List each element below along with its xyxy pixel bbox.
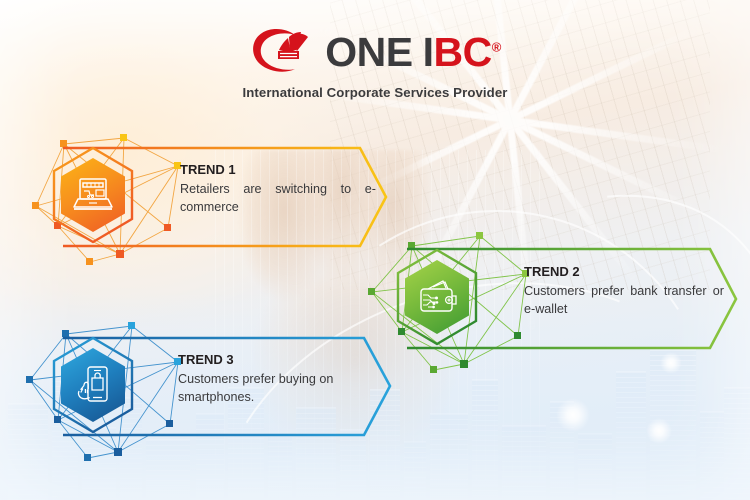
trend-1-text: TREND 1 Retailers are switching to e-com… bbox=[180, 162, 376, 217]
brand-wordmark: ONEIBC® bbox=[325, 32, 501, 73]
trend-3-title: TREND 3 bbox=[178, 352, 378, 368]
brand-i-text: I bbox=[413, 29, 434, 75]
brand-tagline: International Corporate Services Provide… bbox=[0, 85, 750, 100]
trend-2-title: TREND 2 bbox=[524, 264, 724, 280]
trend-1-block[interactable]: TREND 1 Retailers are switching to e-com… bbox=[28, 132, 388, 264]
wallet-circuit-icon bbox=[405, 260, 469, 334]
logo-row: ONEIBC® bbox=[0, 24, 750, 80]
trend-2-body: Customers prefer bank transfer or e-wall… bbox=[524, 283, 724, 319]
trend-3-icon-hexagon bbox=[50, 336, 136, 434]
brand-one-text: ONE bbox=[325, 29, 412, 75]
laptop-storefront-ecommerce-icon bbox=[61, 158, 125, 232]
brand-header: ONEIBC® International Corporate Services… bbox=[0, 24, 750, 100]
trend-2-block[interactable]: TREND 2 Customers prefer bank transfer o… bbox=[368, 232, 738, 370]
brand-bc-text: BC bbox=[433, 29, 491, 75]
one-ibc-swoosh-logo-icon bbox=[249, 26, 313, 78]
trend-3-block[interactable]: TREND 3 Customers prefer buying on smart… bbox=[26, 322, 386, 458]
trend-2-icon-hexagon bbox=[394, 248, 480, 346]
trend-2-text: TREND 2 Customers prefer bank transfer o… bbox=[524, 264, 724, 319]
trend-1-title: TREND 1 bbox=[180, 162, 376, 178]
trend-1-body: Retailers are switching to e-commerce bbox=[180, 181, 376, 217]
registered-trademark-icon: ® bbox=[492, 39, 501, 54]
infographic-canvas: ONEIBC® International Corporate Services… bbox=[0, 0, 750, 500]
trend-3-body: Customers prefer buying on smartphones. bbox=[178, 371, 378, 407]
trend-3-text: TREND 3 Customers prefer buying on smart… bbox=[178, 352, 378, 407]
smartphone-tap-shopping-icon bbox=[61, 348, 125, 422]
trend-1-icon-hexagon bbox=[50, 146, 136, 244]
